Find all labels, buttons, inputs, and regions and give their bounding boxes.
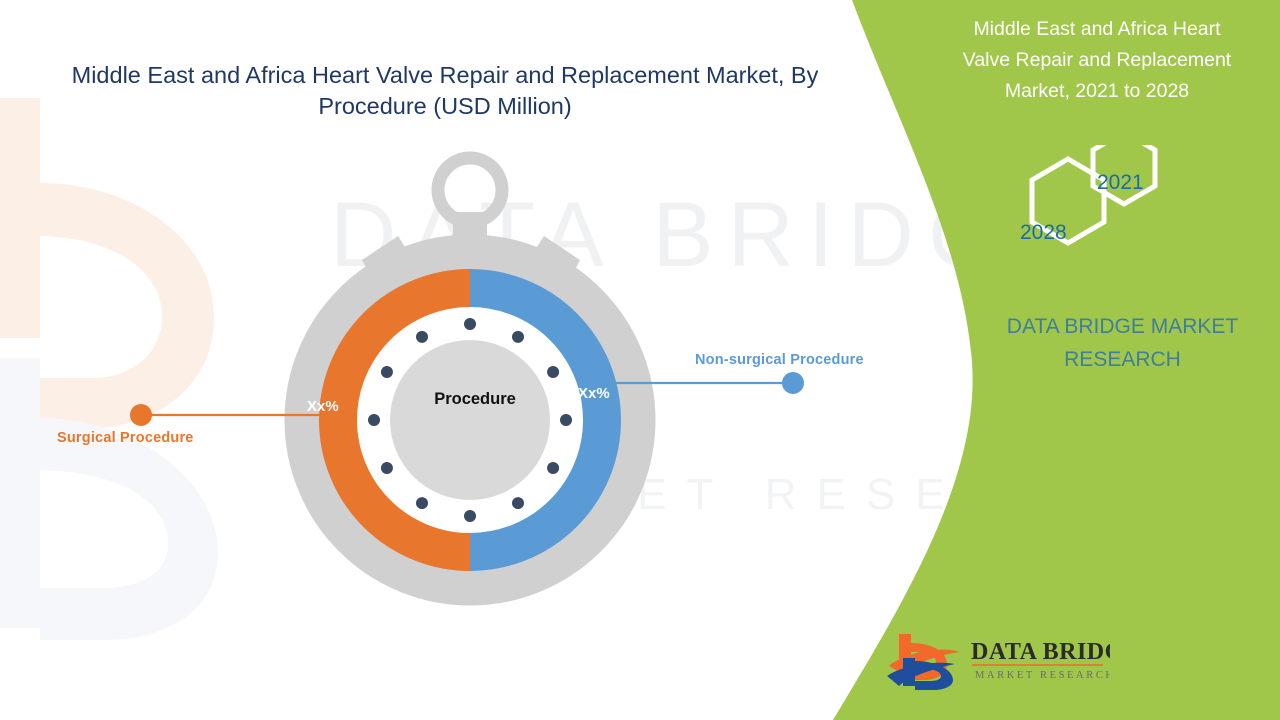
panel-brand-line-1: DATA BRIDGE MARKET bbox=[975, 310, 1270, 343]
panel-title-line-2: Valve Repair and Replacement bbox=[932, 45, 1262, 76]
chart-title-line-2: Procedure (USD Million) bbox=[50, 91, 840, 122]
hexagon-year-2028: 2028 bbox=[1020, 221, 1067, 245]
callout-left-dot bbox=[130, 404, 152, 426]
logo-mark-icon bbox=[887, 634, 959, 690]
callout-label-non-surgical: Non-surgical Procedure bbox=[695, 352, 864, 368]
panel-title: Middle East and Africa Heart Valve Repai… bbox=[932, 14, 1262, 107]
chart-title: Middle East and Africa Heart Valve Repai… bbox=[50, 60, 840, 122]
callout-label-surgical: Surgical Procedure bbox=[57, 430, 194, 446]
logo-wordmark: DATA BRIDGE bbox=[971, 639, 1110, 665]
panel-title-line-1: Middle East and Africa Heart bbox=[932, 14, 1262, 45]
panel-brand-line-2: RESEARCH bbox=[975, 343, 1270, 376]
percent-label-non-surgical: Xx% bbox=[578, 385, 610, 402]
data-bridge-logo: DATA BRIDGE MARKET RESEARCH bbox=[885, 630, 1110, 692]
percent-label-surgical: Xx% bbox=[307, 398, 339, 415]
infographic-canvas: DATA BRIDGE MARKET RESEARCH Middle East … bbox=[0, 0, 1280, 720]
chart-title-line-1: Middle East and Africa Heart Valve Repai… bbox=[50, 60, 840, 91]
panel-title-line-3: Market, 2021 to 2028 bbox=[932, 76, 1262, 107]
panel-brand-name: DATA BRIDGE MARKET RESEARCH bbox=[975, 310, 1270, 376]
callout-right-dot bbox=[782, 372, 804, 394]
hexagon-group bbox=[990, 145, 1190, 280]
hexagon-year-2021: 2021 bbox=[1097, 171, 1144, 195]
logo-tagline: MARKET RESEARCH bbox=[975, 670, 1110, 681]
